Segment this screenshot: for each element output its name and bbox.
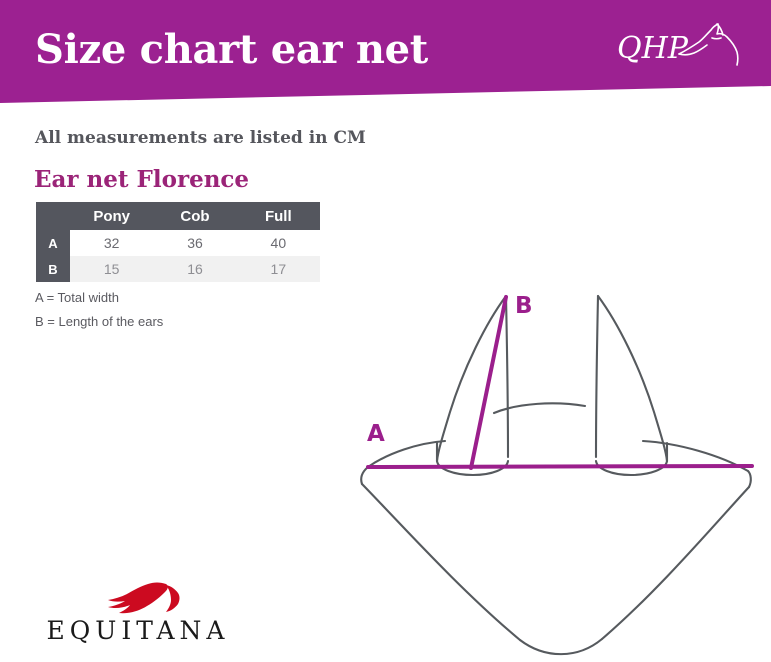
- label-a: A: [367, 421, 385, 447]
- size-table: Pony Cob Full A 32 36 40 B 15 16 17: [36, 202, 320, 282]
- legend-line-b: B = Length of the ears: [35, 310, 163, 334]
- table-header-row: Pony Cob Full: [36, 202, 320, 230]
- page-title: Size chart ear net: [35, 27, 428, 73]
- ear-net-diagram-svg: A B: [340, 275, 771, 662]
- cell-a-pony: 32: [70, 230, 153, 256]
- table-row: B 15 16 17: [36, 256, 320, 282]
- table-corner-cell: [36, 202, 70, 230]
- equitana-horse-icon: [28, 578, 248, 618]
- measurement-line-a: [368, 466, 752, 467]
- product-title: Ear net Florence: [34, 166, 249, 194]
- cell-a-full: 40: [237, 230, 320, 256]
- row-label-b: B: [36, 256, 70, 282]
- bonnet-outline: [361, 403, 751, 654]
- row-label-a: A: [36, 230, 70, 256]
- cell-b-cob: 16: [153, 256, 236, 282]
- cell-a-cob: 36: [153, 230, 236, 256]
- red-horse-head-icon: [108, 583, 180, 614]
- column-header-pony: Pony: [70, 202, 153, 230]
- qhp-logo-svg: QHP: [617, 22, 747, 78]
- table-row: A 32 36 40: [36, 230, 320, 256]
- qhp-logo: QHP: [617, 22, 747, 78]
- ear-net-diagram: A B: [340, 275, 771, 662]
- cell-b-pony: 15: [70, 256, 153, 282]
- qhp-logo-wordmark: QHP: [617, 31, 689, 66]
- equitana-wordmark: EQUITANA: [28, 616, 248, 645]
- column-header-cob: Cob: [153, 202, 236, 230]
- column-header-full: Full: [237, 202, 320, 230]
- legend-line-a: A = Total width: [35, 286, 163, 310]
- size-chart-page: Size chart ear net QHP All measurements …: [0, 0, 771, 662]
- label-b: B: [515, 293, 533, 319]
- measurement-legend: A = Total width B = Length of the ears: [35, 286, 163, 334]
- left-ear-outline: [437, 296, 508, 475]
- cell-b-full: 17: [237, 256, 320, 282]
- size-table-head: Pony Cob Full: [36, 202, 320, 230]
- right-ear-outline: [596, 296, 667, 475]
- size-table-body: A 32 36 40 B 15 16 17: [36, 230, 320, 282]
- equitana-logo: EQUITANA: [28, 578, 248, 652]
- measurement-note: All measurements are listed in CM: [35, 127, 366, 149]
